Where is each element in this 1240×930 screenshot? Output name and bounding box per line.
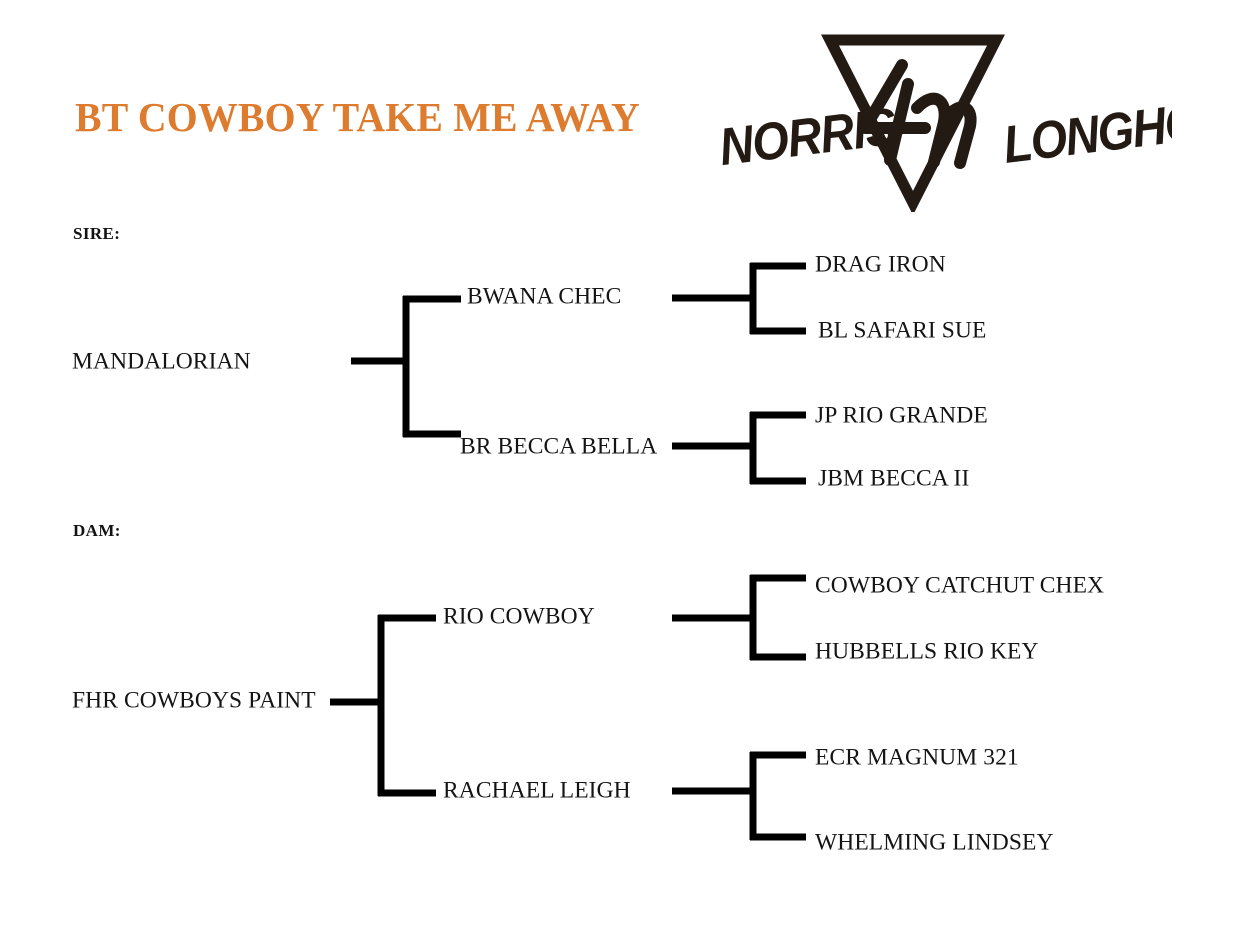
sire-great-grandparent-name-1: DRAG IRON <box>815 253 946 277</box>
sire-great-grandparent-name-2: BL SAFARI SUE <box>818 319 986 343</box>
sire-grandparent-name-1: BWANA CHEC <box>467 285 621 309</box>
pedigree-chart: MANDALORIAN BWANA CHEC BR BECCA BELLA DR… <box>0 0 1240 930</box>
dam-great-grandparent-name-1: COWBOY CATCHUT CHEX <box>815 574 1104 598</box>
dam-great-grandparent-name-4: WHELMING LINDSEY <box>815 831 1054 855</box>
dam-great-grandparent-name-3: ECR MAGNUM 321 <box>815 746 1019 770</box>
dam-grandparent-name-1: RIO COWBOY <box>443 605 595 629</box>
dam-parent-name: FHR COWBOYS PAINT <box>72 689 316 713</box>
sire-parent-name: MANDALORIAN <box>72 350 251 374</box>
dam-grandparent-name-2: RACHAEL LEIGH <box>443 779 631 803</box>
sire-grandparent-name-2: BR BECCA BELLA <box>460 435 657 459</box>
sire-great-grandparent-name-3: JP RIO GRANDE <box>815 404 988 428</box>
sire-great-grandparent-name-4: JBM BECCA II <box>818 467 969 491</box>
dam-great-grandparent-name-2: HUBBELLS RIO KEY <box>815 640 1039 664</box>
